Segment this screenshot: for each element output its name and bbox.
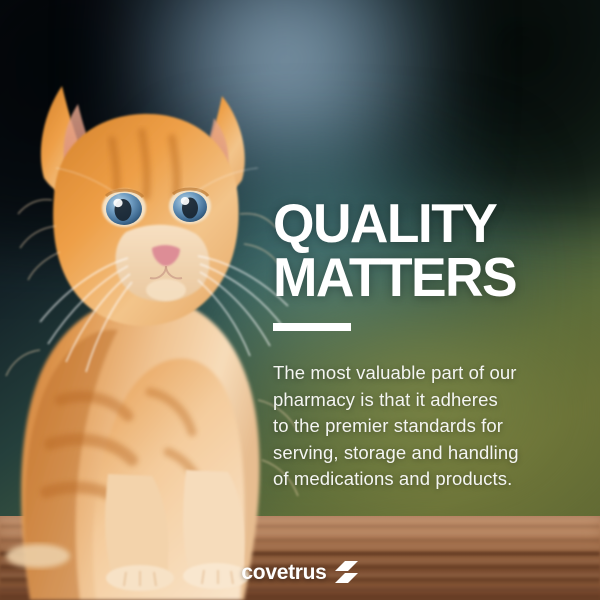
poster-canvas: QUALITY MATTERS The most valuable part o… <box>0 0 600 600</box>
kitten-eye-left <box>102 189 146 227</box>
body-copy-line: serving, storage and handling <box>273 440 573 467</box>
body-copy-line: The most valuable part of our <box>273 360 573 387</box>
body-copy-line: to the premier standards for <box>273 413 573 440</box>
brand-logo: covetrus <box>0 560 600 584</box>
divider-rule <box>273 323 351 331</box>
headline-line-1: QUALITY <box>273 196 564 250</box>
body-copy: The most valuable part of our pharmacy i… <box>273 360 573 493</box>
body-copy-line: of medications and products. <box>273 466 573 493</box>
page-title: QUALITY MATTERS <box>273 196 564 304</box>
body-copy-line: pharmacy is that it adheres <box>273 387 573 414</box>
headline-line-2: MATTERS <box>273 250 564 304</box>
brand-wordmark: covetrus <box>241 562 326 583</box>
kitten-eye-right <box>169 188 211 224</box>
stacked-diamonds-logo-mark <box>334 560 359 584</box>
text-content-block: QUALITY MATTERS The most valuable part o… <box>273 196 573 493</box>
